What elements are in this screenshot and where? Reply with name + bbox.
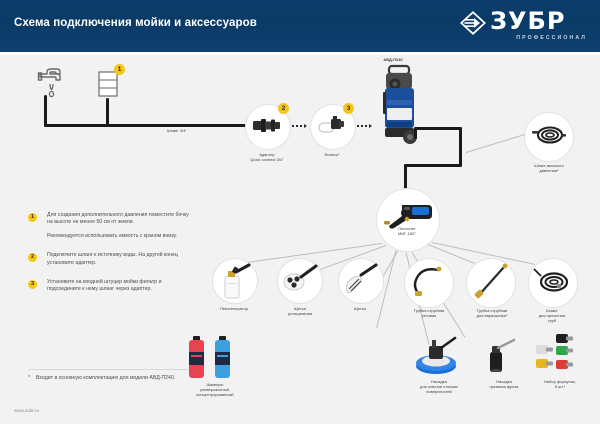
- adapter-icon: [252, 114, 282, 136]
- instruction-item-2: 2 Подключите шланг к источнику воды. На …: [28, 252, 193, 267]
- pipe-barrel-drop: [106, 98, 109, 126]
- angled-lance-caption: Трубка струйная угловая: [400, 308, 458, 318]
- brush-caption: Щетка: [338, 306, 382, 311]
- page-header: Схема подключения мойки и аксессуаров ЗУ…: [0, 0, 600, 52]
- vario-lance-caption-line2: для вариокопья*: [462, 313, 522, 318]
- footnote-divider: [28, 369, 188, 370]
- angled-lance-caption-line2: угловая: [400, 313, 458, 318]
- instruction-text-2: Подключите шланг к источнику воды. На др…: [47, 252, 193, 267]
- pipe-cleaning-hose-caption: Шланг для прочистки труб: [524, 308, 580, 324]
- adapter-caption: Адаптер Quick connect 3/4": [232, 152, 302, 162]
- instruction-text-1: Для создания дополнительного давления по…: [47, 212, 193, 227]
- pipe-hp-to-gun: [404, 164, 407, 190]
- site-url: www.zubr.ru: [14, 408, 39, 413]
- pipe-cleaning-hose-caption-line3: труб: [524, 318, 580, 323]
- turbo-nozzle-icon: [484, 338, 518, 374]
- zubr-arrow-logo-icon: [460, 11, 486, 35]
- hose-label: Шланг 3/4": [147, 128, 207, 133]
- footnote-star: *: [28, 375, 30, 382]
- logo-subtitle: ПРОФЕССИОНАЛ: [516, 35, 587, 41]
- instruction-item-1: 1 Для создания дополнительного давления …: [28, 212, 193, 240]
- foam-generator-caption: Пеногенератор: [205, 306, 263, 311]
- pipe-main-horizontal: [44, 124, 264, 127]
- gun-caption-line2: МИГ-180°: [378, 231, 436, 236]
- vario-lance-icon: [471, 262, 511, 302]
- vario-lance-caption: Трубка струйная для вариокопья*: [462, 308, 522, 318]
- filter-caption: Фильтр*: [305, 152, 359, 157]
- adapter-caption-line2: Quick connect 3/4": [232, 157, 302, 162]
- badge-3: 3: [343, 103, 354, 114]
- surface-cleaner-caption-line3: поверхностей: [404, 389, 474, 394]
- shampoo-caption: Шампунь универсальный, концентрированный: [178, 382, 252, 398]
- nozzle-set-caption: Набор форсунок, 5 шт.*: [530, 379, 590, 389]
- hp-hose-leader-line: [466, 134, 526, 153]
- surface-cleaner-icon: [414, 334, 460, 376]
- flow-dots-1: [292, 124, 307, 128]
- gun-caption: Пистолет МИГ-180°: [378, 226, 436, 236]
- page-title: Схема подключения мойки и аксессуаров: [14, 17, 257, 29]
- header-divider: [0, 52, 600, 55]
- logo-wordmark: ЗУБР: [490, 8, 565, 34]
- nozzle-set-icon: [534, 332, 586, 376]
- pipe-washer-top: [414, 127, 462, 130]
- flow-dots-2: [357, 124, 372, 128]
- shampoo-caption-line3: концентрированный: [178, 392, 252, 397]
- rotary-brush-caption: Щетка ротационная: [272, 306, 328, 316]
- hp-hose-caption-line2: давления*: [518, 168, 580, 173]
- instruction-text-1b: Рекомендуется использовать емкость с кра…: [47, 233, 193, 240]
- hp-hose-caption: Шланг высокого давления*: [518, 163, 580, 173]
- pipe-cleaning-hose-icon: [533, 266, 573, 296]
- pipe-faucet-drop: [44, 95, 47, 127]
- washer-model-label: АВД-П240: [368, 57, 418, 62]
- instruction-text-3: Установите на входной штуцер мойки фильт…: [47, 279, 193, 294]
- rotary-brush-caption-line2: ротационная: [272, 311, 328, 316]
- brush-icon: [343, 263, 379, 297]
- pipe-hp-left: [404, 164, 462, 167]
- badge-1: 1: [114, 64, 125, 75]
- water-filter-icon: [317, 112, 347, 138]
- angled-lance-icon: [410, 263, 448, 301]
- footnote-text: Входит в основную комплектацию для модел…: [36, 375, 175, 381]
- pipe-hp-down: [459, 127, 462, 167]
- nozzle-set-caption-line2: 5 шт.*: [530, 384, 590, 389]
- shampoo-bottles-icon: [185, 332, 245, 380]
- instruction-item-3: 3 Установите на входной штуцер мойки фил…: [28, 279, 193, 294]
- surface-cleaner-caption: Насадка для очистки плоских поверхностей: [404, 379, 474, 395]
- infographic-page: Схема подключения мойки и аксессуаров ЗУ…: [0, 0, 600, 424]
- instruction-number-2: 2: [28, 253, 37, 262]
- badge-2: 2: [278, 103, 289, 114]
- instructions-list: 1 Для создания дополнительного давления …: [28, 212, 193, 302]
- turbo-nozzle-caption-line2: грязевая фреза: [478, 384, 530, 389]
- instruction-number-1: 1: [28, 213, 37, 222]
- brand-logo: ЗУБР ПРОФЕССИОНАЛ: [460, 8, 588, 44]
- foam-generator-icon: [219, 263, 251, 299]
- instruction-number-3: 3: [28, 280, 37, 289]
- rotary-brush-icon: [282, 264, 318, 296]
- faucet-icon: [36, 68, 68, 98]
- high-pressure-hose-icon: [531, 122, 567, 148]
- turbo-nozzle-caption: Насадка грязевая фреза: [478, 379, 530, 389]
